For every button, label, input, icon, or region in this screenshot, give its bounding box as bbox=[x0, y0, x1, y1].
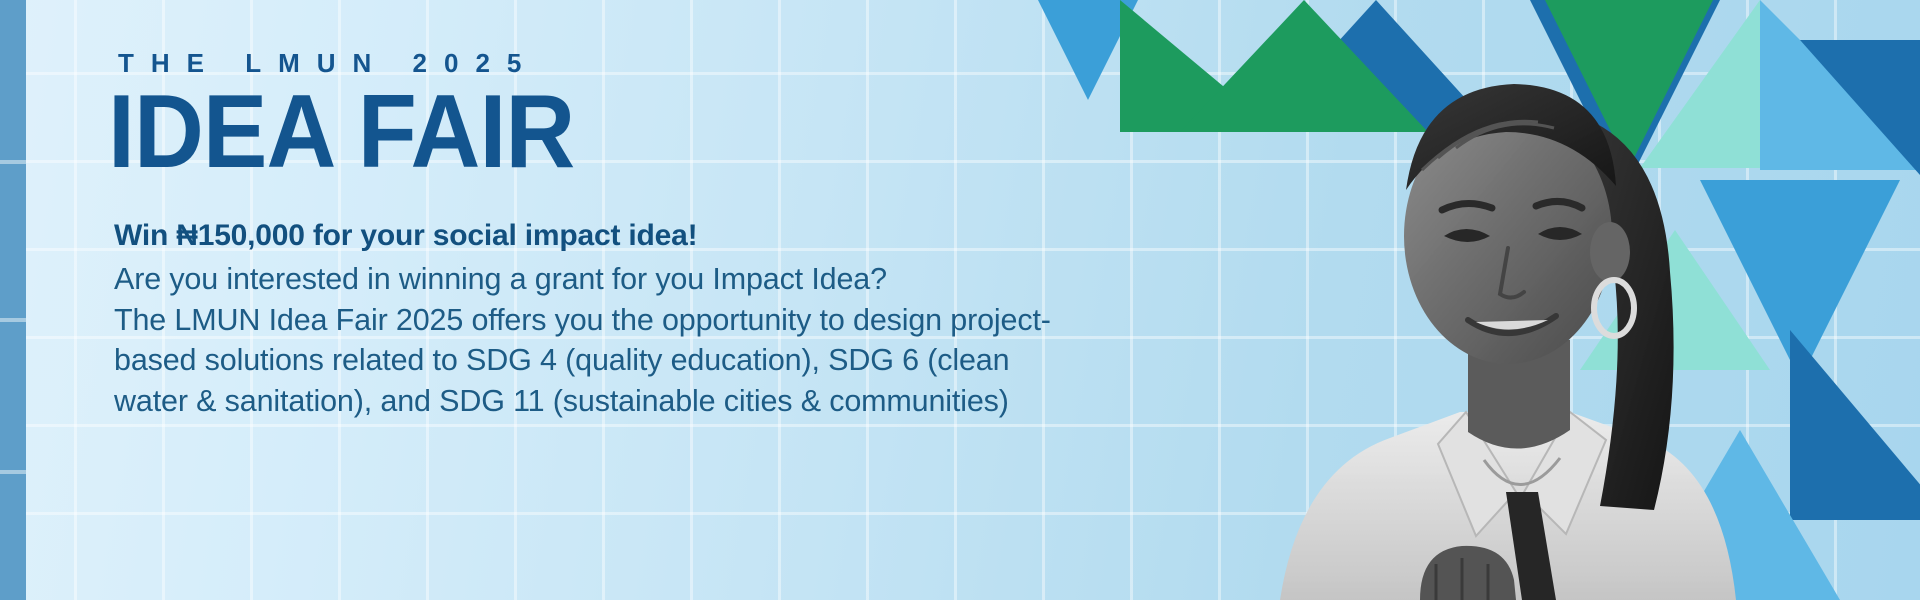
body-line-2: The LMUN Idea Fair 2025 offers you the o… bbox=[114, 300, 1232, 341]
body-line-1: Are you interested in winning a grant fo… bbox=[114, 259, 1232, 300]
prize-subheading: Win ₦150,000 for your social impact idea… bbox=[114, 219, 1232, 253]
description-copy: Are you interested in winning a grant fo… bbox=[114, 259, 1232, 422]
left-edge-strip bbox=[0, 0, 26, 600]
banner-content: THE LMUN 2025 IDEA FAIR Win ₦150,000 for… bbox=[112, 48, 1232, 422]
portrait-photo bbox=[1270, 40, 1740, 600]
idea-fair-banner: THE LMUN 2025 IDEA FAIR Win ₦150,000 for… bbox=[0, 0, 1920, 600]
body-line-3: based solutions related to SDG 4 (qualit… bbox=[114, 340, 1232, 381]
body-line-4: water & sanitation), and SDG 11 (sustain… bbox=[114, 381, 1232, 422]
page-title: IDEA FAIR bbox=[108, 85, 1153, 181]
left-edge-strip-divider bbox=[0, 318, 26, 322]
